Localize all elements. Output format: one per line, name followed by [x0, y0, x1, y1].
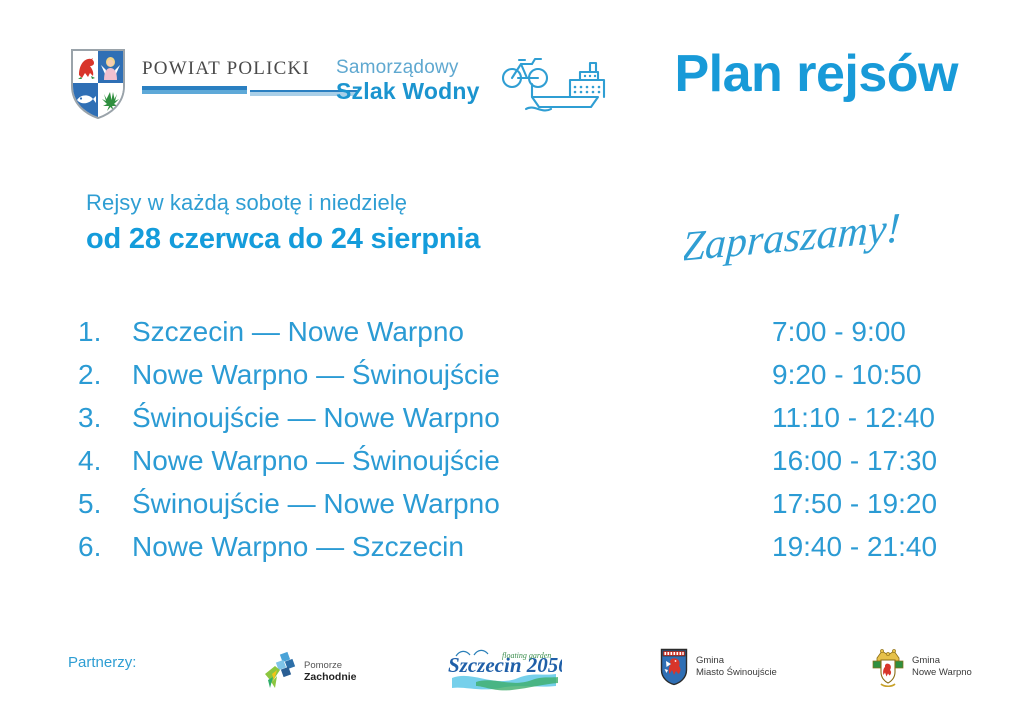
subtitle-block: Rejsy w każdą sobotę i niedzielę od 28 c… [86, 190, 480, 256]
powiat-policki-coat-of-arms-icon [70, 48, 126, 120]
partner-pomorze-zachodnie: Pomorze Zachodnie [262, 650, 357, 694]
footer-partners: Partnerzy: Pomorze Zachodnie Szczecin 20… [0, 636, 1024, 724]
partner-swinoujscie: Gmina Miasto Świnoujście [660, 648, 777, 686]
trip-number: 4. [76, 445, 132, 477]
trip-number: 2. [76, 359, 132, 391]
trip-route: Nowe Warpno — Szczecin [132, 531, 772, 563]
powiat-bar-icon [142, 85, 357, 98]
page-title: Plan rejsów [675, 44, 959, 104]
szlak-words: Samorządowy Szlak Wodny [336, 57, 480, 104]
partner-line-2: Nowe Warpno [912, 667, 972, 679]
trip-route: Szczecin — Nowe Warpno [132, 316, 772, 348]
partner-line-1: Gmina [696, 655, 777, 667]
powiat-name: POWIAT POLICKI [142, 58, 357, 80]
szlak-line-2: Szlak Wodny [336, 79, 480, 105]
partner-text: Gmina Miasto Świnoujście [696, 655, 777, 679]
trip-number: 5. [76, 488, 132, 520]
partner-text: Gmina Nowe Warpno [912, 655, 972, 679]
bicycle-and-ship-icon [494, 50, 612, 112]
trip-route: Świnoujście — Nowe Warpno [132, 402, 772, 434]
powiat-text-block: POWIAT POLICKI [142, 48, 357, 103]
pomorze-zachodnie-logo-icon [262, 650, 296, 694]
trip-time: 11:10 - 12:40 [772, 402, 935, 434]
trip-number: 6. [76, 531, 132, 563]
szlak-line-1: Samorządowy [336, 57, 480, 78]
trip-number: 3. [76, 402, 132, 434]
header: POWIAT POLICKI Samorządowy Szlak Wodny [0, 0, 1024, 140]
partner-text: Pomorze Zachodnie [304, 660, 357, 685]
trip-time: 9:20 - 10:50 [772, 359, 921, 391]
powiat-policki-logo: POWIAT POLICKI [70, 48, 357, 120]
partner-line-1: Gmina [912, 655, 972, 667]
partners-label: Partnerzy: [68, 654, 136, 671]
table-row: 6. Nowe Warpno — Szczecin 19:40 - 21:40 [76, 531, 956, 574]
schedule-list: 1. Szczecin — Nowe Warpno 7:00 - 9:00 2.… [76, 316, 956, 574]
subtitle-line-1: Rejsy w każdą sobotę i niedzielę [86, 190, 480, 216]
table-row: 1. Szczecin — Nowe Warpno 7:00 - 9:00 [76, 316, 956, 359]
trip-time: 7:00 - 9:00 [772, 316, 906, 348]
partner-szczecin-2050: Szczecin 2050 floating garden [446, 646, 562, 698]
subtitle-line-2: od 28 czerwca do 24 sierpnia [86, 223, 480, 256]
table-row: 5. Świnoujście — Nowe Warpno 17:50 - 19:… [76, 488, 956, 531]
zapraszamy-script-text: Zapraszamy! [684, 212, 974, 278]
partner-line-2: Zachodnie [304, 671, 357, 684]
partner-line-1: Pomorze [304, 660, 357, 672]
trip-route: Nowe Warpno — Świnoujście [132, 445, 772, 477]
trip-route: Nowe Warpno — Świnoujście [132, 359, 772, 391]
trip-time: 19:40 - 21:40 [772, 531, 937, 563]
trip-time: 17:50 - 19:20 [772, 488, 937, 520]
zapraszamy-label: Zapraszamy! [684, 212, 902, 271]
swinoujscie-coat-of-arms-icon [660, 648, 688, 686]
floating-garden-tagline: floating garden [502, 651, 551, 660]
table-row: 4. Nowe Warpno — Świnoujście 16:00 - 17:… [76, 445, 956, 488]
trip-time: 16:00 - 17:30 [772, 445, 937, 477]
trip-route: Świnoujście — Nowe Warpno [132, 488, 772, 520]
table-row: 2. Nowe Warpno — Świnoujście 9:20 - 10:5… [76, 359, 956, 402]
szczecin-2050-floating-garden-logo-icon: Szczecin 2050 floating garden [446, 646, 562, 698]
partner-nowe-warpno: Gmina Nowe Warpno [872, 646, 972, 688]
partner-line-2: Miasto Świnoujście [696, 667, 777, 679]
nowe-warpno-coat-of-arms-icon [872, 646, 904, 688]
samorzadowy-szlak-wodny-logo: Samorządowy Szlak Wodny [336, 50, 612, 112]
table-row: 3. Świnoujście — Nowe Warpno 11:10 - 12:… [76, 402, 956, 445]
trip-number: 1. [76, 316, 132, 348]
